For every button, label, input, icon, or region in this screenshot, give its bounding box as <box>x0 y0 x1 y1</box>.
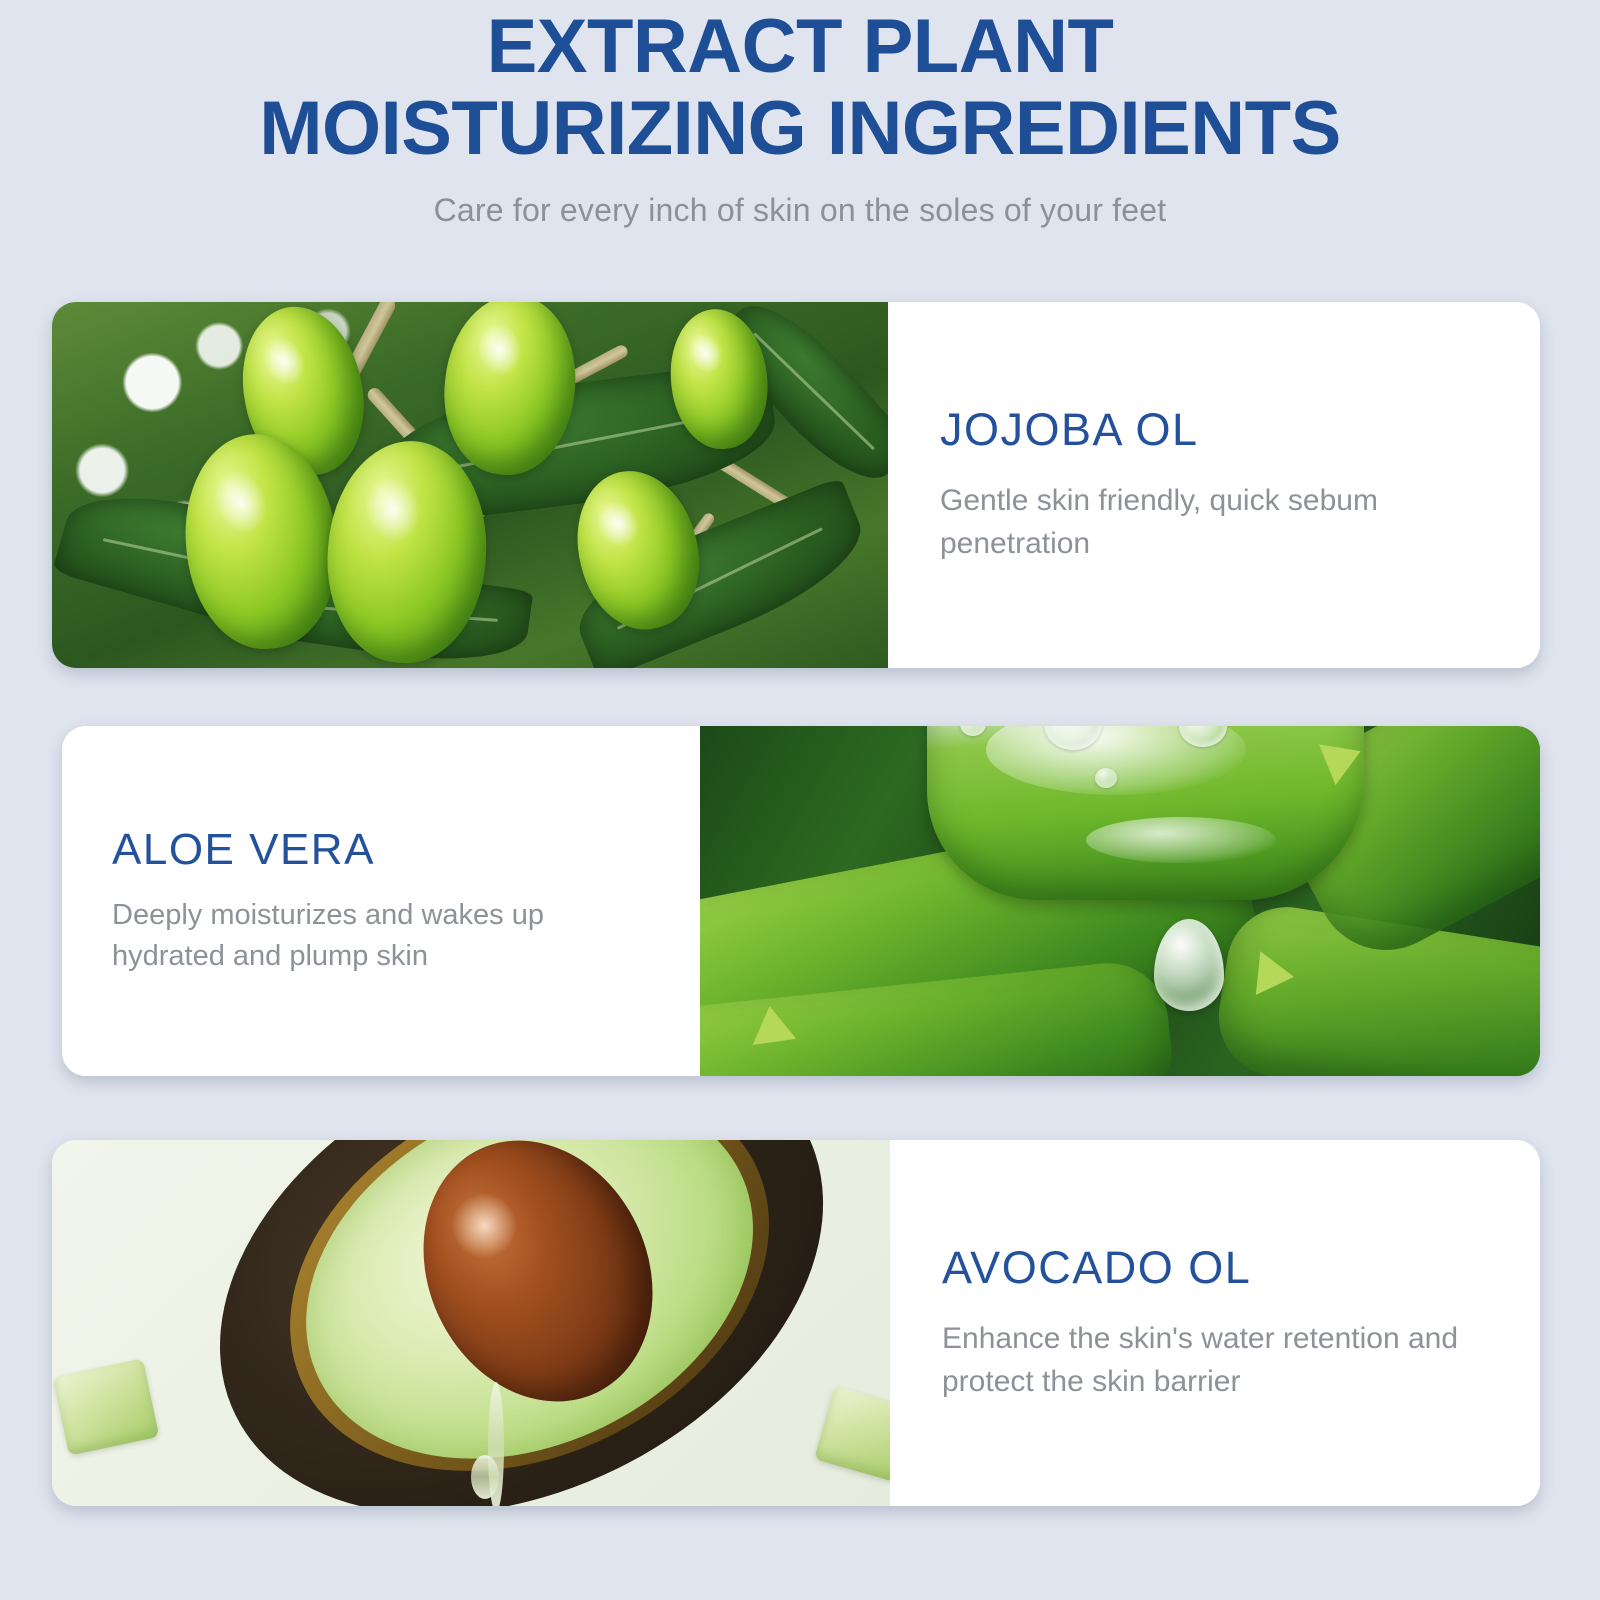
aloe-spike <box>748 1003 797 1045</box>
avocado-cube <box>814 1386 890 1482</box>
ingredient-card-jojoba[interactable]: JOJOBA OL Gentle skin friendly, quick se… <box>52 302 1540 668</box>
page-title-line-1: EXTRACT PLANT <box>40 6 1560 88</box>
oil-droplet <box>471 1455 499 1499</box>
aloe-vera-leaf-photo <box>700 726 1540 1076</box>
ingredients-infographic: EXTRACT PLANT MOISTURIZING INGREDIENTS C… <box>0 0 1600 1600</box>
ingredient-description: Gentle skin friendly, quick sebum penetr… <box>940 480 1480 565</box>
ingredient-title: JOJOBA OL <box>940 404 1480 456</box>
water-droplet <box>1095 768 1117 788</box>
aloe-spike <box>1256 951 1296 999</box>
ingredient-description: Enhance the skin's water retention and p… <box>942 1318 1480 1403</box>
page-title: EXTRACT PLANT MOISTURIZING INGREDIENTS <box>0 6 1600 170</box>
olive-scene <box>52 302 888 668</box>
avocado-cube <box>53 1358 160 1455</box>
ingredient-card-avocado[interactable]: AVOCADO OL Enhance the skin's water rete… <box>52 1140 1540 1506</box>
card-text-panel: ALOE VERA Deeply moisturizes and wakes u… <box>62 726 700 1076</box>
ingredient-title: ALOE VERA <box>112 825 646 875</box>
aloe-scene <box>700 726 1540 1076</box>
card-text-panel: AVOCADO OL Enhance the skin's water rete… <box>890 1140 1540 1506</box>
olive-branch-photo <box>52 302 888 668</box>
ingredient-card-aloe-vera[interactable]: ALOE VERA Deeply moisturizes and wakes u… <box>62 726 1540 1076</box>
avocado-half-photo <box>52 1140 890 1506</box>
avocado-scene <box>52 1140 890 1506</box>
leaf-sheen <box>1086 817 1276 863</box>
header: EXTRACT PLANT MOISTURIZING INGREDIENTS C… <box>0 0 1600 229</box>
ingredient-description: Deeply moisturizes and wakes up hydrated… <box>112 895 646 977</box>
card-text-panel: JOJOBA OL Gentle skin friendly, quick se… <box>888 302 1540 668</box>
page-title-line-2: MOISTURIZING INGREDIENTS <box>40 88 1560 170</box>
page-subtitle: Care for every inch of skin on the soles… <box>0 192 1600 229</box>
ingredient-title: AVOCADO OL <box>942 1242 1480 1294</box>
